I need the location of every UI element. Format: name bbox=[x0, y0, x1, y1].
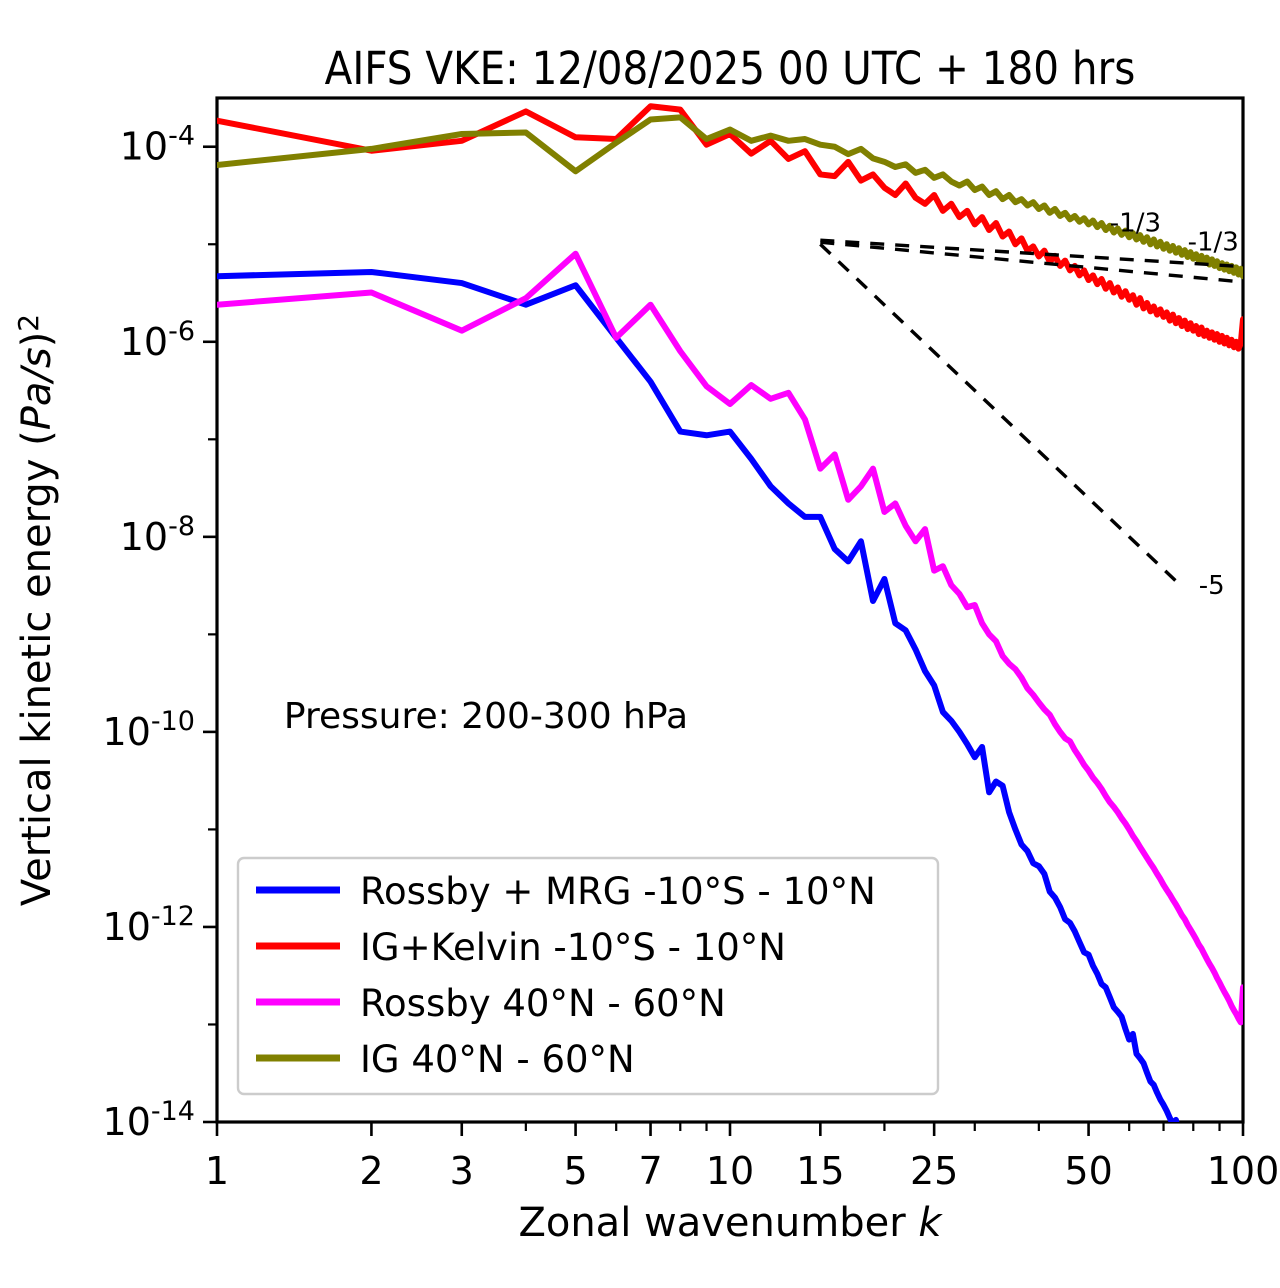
slope-label-lower: -1/3 bbox=[1188, 228, 1239, 258]
x-tick-label-2: 2 bbox=[359, 1149, 383, 1193]
slope-label-minus5: -5 bbox=[1199, 571, 1225, 601]
y-tick-label--8: 10-8 bbox=[120, 511, 195, 559]
x-tick-label-10: 10 bbox=[706, 1149, 754, 1193]
legend-label-3[interactable]: IG 40°N - 60°N bbox=[360, 1038, 635, 1081]
spectral-energy-chart: AIFS VKE: 12/08/2025 00 UTC + 180 hrs Pr… bbox=[0, 0, 1280, 1288]
chart-title: AIFS VKE: 12/08/2025 00 UTC + 180 hrs bbox=[325, 42, 1136, 95]
series-line-1 bbox=[217, 106, 1243, 348]
pressure-annotation: Pressure: 200-300 hPa bbox=[284, 696, 688, 737]
legend-label-0[interactable]: Rossby + MRG -10°S - 10°N bbox=[360, 870, 876, 913]
y-axis-title: Vertical kinetic energy (Pa/s)2 bbox=[12, 314, 60, 906]
x-tick-label-7: 7 bbox=[638, 1149, 662, 1193]
x-tick-label-15: 15 bbox=[796, 1149, 844, 1193]
x-tick-label-3: 3 bbox=[450, 1149, 474, 1193]
reference-lines-group bbox=[820, 240, 1243, 584]
y-tick-label--6: 10-6 bbox=[120, 316, 195, 364]
y-tick-label--12: 10-12 bbox=[103, 901, 195, 949]
x-tick-label-100: 100 bbox=[1207, 1149, 1280, 1193]
series-line-3 bbox=[217, 117, 1243, 276]
slope-label-upper: -1/3 bbox=[1110, 209, 1161, 239]
legend-label-1[interactable]: IG+Kelvin -10°S - 10°N bbox=[360, 926, 786, 969]
x-tick-label-5: 5 bbox=[563, 1149, 587, 1193]
x-axis-title: Zonal wavenumber k bbox=[518, 1200, 943, 1246]
x-tick-label-50: 50 bbox=[1064, 1149, 1112, 1193]
y-tick-label--14: 10-14 bbox=[103, 1096, 195, 1144]
y-tick-label--4: 10-4 bbox=[120, 121, 195, 169]
y-tick-label--10: 10-10 bbox=[103, 706, 195, 754]
figure-container: AIFS VKE: 12/08/2025 00 UTC + 180 hrs Pr… bbox=[0, 0, 1280, 1288]
x-tick-label-25: 25 bbox=[910, 1149, 958, 1193]
chart-legend[interactable]: Rossby + MRG -10°S - 10°NIG+Kelvin -10°S… bbox=[238, 858, 938, 1094]
legend-label-2[interactable]: Rossby 40°N - 60°N bbox=[360, 982, 726, 1025]
x-tick-label-1: 1 bbox=[205, 1149, 229, 1193]
